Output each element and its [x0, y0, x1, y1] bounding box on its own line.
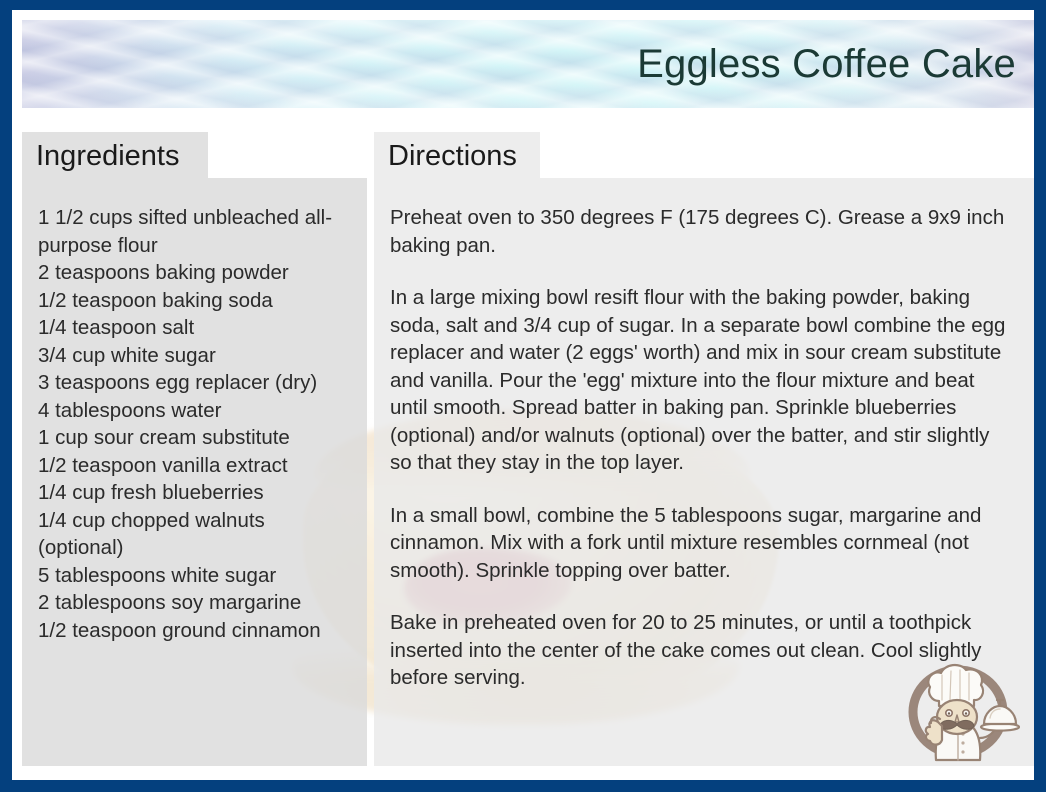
ingredient-item: 2 tablespoons soy margarine [38, 589, 351, 617]
ingredient-item: 1/4 cup fresh blueberries [38, 479, 351, 507]
ingredient-item: 5 tablespoons white sugar [38, 562, 351, 590]
directions-heading: Directions [374, 132, 540, 178]
direction-step: In a large mixing bowl resift flour with… [390, 284, 1014, 477]
ingredients-heading: Ingredients [22, 132, 208, 178]
ingredient-item: 3/4 cup white sugar [38, 342, 351, 370]
direction-step: In a small bowl, combine the 5 tablespoo… [390, 502, 1014, 585]
direction-step: Bake in preheated oven for 20 to 25 minu… [390, 609, 1014, 692]
direction-step: Preheat oven to 350 degrees F (175 degre… [390, 204, 1014, 259]
ingredient-item: 1/4 cup chopped walnuts (optional) [38, 507, 351, 562]
ingredient-item: 3 teaspoons egg replacer (dry) [38, 369, 351, 397]
ingredient-item: 1/2 teaspoon ground cinnamon [38, 617, 351, 645]
ingredient-item: 1 cup sour cream substitute [38, 424, 351, 452]
recipe-card-inner: Eggless Coffee Cake 1 1/2 cups sifted un… [12, 10, 1034, 780]
ingredients-panel: 1 1/2 cups sifted unbleached all-purpose… [22, 178, 367, 766]
page-title: Eggless Coffee Cake [637, 44, 1016, 84]
ingredient-item: 1/2 teaspoon baking soda [38, 287, 351, 315]
ingredient-item: 2 teaspoons baking powder [38, 259, 351, 287]
ingredient-item: 1/2 teaspoon vanilla extract [38, 452, 351, 480]
ingredient-item: 4 tablespoons water [38, 397, 351, 425]
directions-list: Preheat oven to 350 degrees F (175 degre… [374, 178, 1034, 702]
ingredient-item: 1/4 teaspoon salt [38, 314, 351, 342]
ingredient-item: 1 1/2 cups sifted unbleached all-purpose… [38, 204, 351, 259]
header-banner: Eggless Coffee Cake [22, 20, 1034, 108]
ingredients-list: 1 1/2 cups sifted unbleached all-purpose… [22, 178, 367, 654]
directions-panel: Preheat oven to 350 degrees F (175 degre… [374, 178, 1034, 766]
recipe-card: Eggless Coffee Cake 1 1/2 cups sifted un… [0, 0, 1046, 792]
